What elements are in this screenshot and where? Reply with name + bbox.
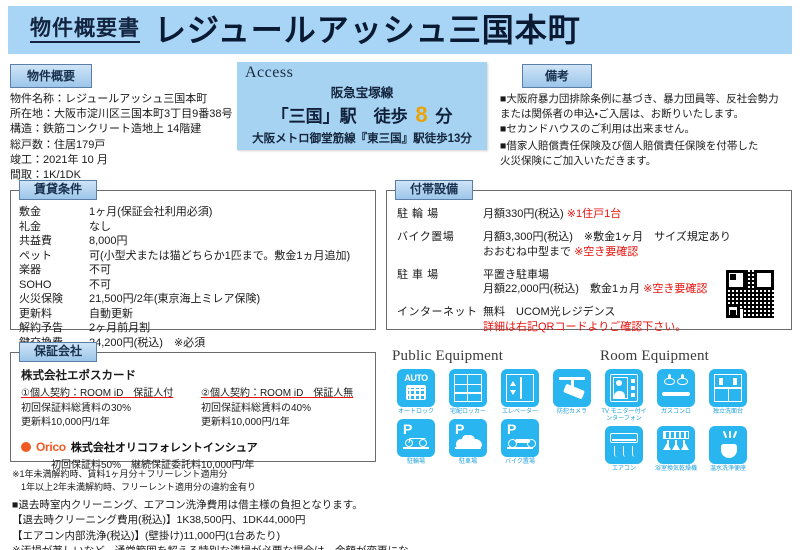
notes-mid-line-2: 【退去時クリーニング費用(税込)】1K38,500円、1DK44,000円 — [12, 513, 412, 528]
equipment-item: P 駐車場 — [444, 419, 492, 466]
remarks-line-1: ■大阪府暴力団排除条例に基づき、暴力団員等、反社会勢力 — [500, 93, 779, 105]
document-header: 物件概要書 レジュールアッシュ三国本町 — [8, 6, 792, 54]
access-walk-minutes: 8 — [412, 102, 430, 127]
ancillary-note: ※空き要確認 — [574, 246, 638, 258]
guarantee-plan-line2: 更新料10,000円/1年 — [21, 416, 187, 431]
motorcycle-parking-icon: P — [501, 419, 539, 457]
gas-stove-icon — [657, 369, 695, 407]
equipment-caption: オートロック — [392, 409, 440, 416]
guarantee-plan-title: ①個人契約：ROOM iD 保証人付 — [21, 387, 187, 402]
overview-item-address: 所在地：大阪市淀川区三国本町3丁目9番38号 — [10, 107, 232, 122]
internet-qr-code[interactable] — [725, 269, 775, 319]
remarks-line-3: ■セカンドハウスのご利用は出来ません。 — [500, 123, 695, 135]
delivery-locker-icon — [449, 369, 487, 407]
ancillary-equipment-section: 付帯設備 駐 輪 場 月額330円(税込) ※1住戸1台 バイク置場 月額3,3… — [386, 190, 792, 330]
remarks-line-4: ■借家人賠償責任保険及び個人賠償責任保険を付帯した — [500, 140, 758, 152]
rental-key: 火災保険 — [19, 292, 89, 307]
property-overview-label: 物件概要 — [10, 64, 92, 88]
overview-item-name: 物件名称：レジュールアッシュ三国本町 — [10, 92, 232, 107]
rental-row: 楽器不可 — [19, 263, 367, 278]
equipment-caption: 駐輪場 — [392, 459, 440, 466]
rental-value: 24,200円(税込) ※必須 — [89, 336, 205, 351]
rental-conditions-label: 賃貸条件 — [19, 180, 97, 200]
rental-row: SOHO不可 — [19, 278, 367, 293]
ancillary-row-motorcycle: バイク置場 月額3,300円(税込) ※敷金1ヶ月 サイズ規定あり おおむね中型… — [397, 230, 783, 260]
equipment-item: P バイク置場 — [496, 419, 544, 466]
bottom-notes: ※1年未満解約時、賃料1ヶ月分＋フリーレント適用分 1年以上2年未満解約時、フリ… — [12, 468, 412, 550]
room-equipment-grid: TV モニター付インターフォン ガスコンロ 独立洗面台 エアコン — [600, 369, 800, 473]
remarks-label: 備考 — [522, 64, 592, 88]
overview-item-units: 総戸数：住居179戸 — [10, 138, 232, 153]
notes-mid-line-4: ※汚損が著しいなど、通常範囲を超える特別な清掃が必要な場合は、金額が変更になりま… — [12, 544, 412, 550]
guarantee-company-label: 保証会社 — [19, 342, 97, 362]
remarks-line-5: 火災保険にご加入いただきます。 — [500, 155, 656, 167]
equipment-caption: TV モニター付インターフォン — [600, 409, 648, 423]
ancillary-key: バイク置場 — [397, 230, 483, 260]
rental-value: 可(小型犬または猫どちらか1匹まで。敷金1ヵ月追加) — [89, 249, 350, 264]
equipment-caption: エレベーター — [496, 409, 544, 416]
rental-row: 礼金なし — [19, 220, 367, 235]
property-summary-document: 物件概要書 レジュールアッシュ三国本町 物件概要 物件名称：レジュールアッシュ三… — [0, 0, 800, 550]
ancillary-row-bicycle: 駐 輪 場 月額330円(税込) ※1住戸1台 — [397, 207, 783, 222]
ancillary-key: 駐 輪 場 — [397, 207, 483, 222]
rental-value: 21,500円/2年(東京海上ミレア保険) — [89, 292, 260, 307]
rental-row: 更新料自動更新 — [19, 307, 367, 322]
guarantee-plan-line1: 初回保証料総賃料の30% — [21, 402, 187, 417]
security-camera-icon — [553, 369, 591, 407]
ancillary-key: インターネット — [397, 305, 483, 335]
orico-row: Orico 株式会社オリコフォレントインシュア — [21, 439, 367, 455]
ancillary-value-2: 月額22,000円(税込) 敷金1ヵ月 — [483, 283, 640, 295]
ancillary-value: 月額330円(税込) — [483, 208, 564, 220]
orico-logo-dot-icon — [21, 442, 31, 452]
equipment-caption: 浴室換気乾燥機 — [652, 466, 700, 473]
remarks-section: 備考 ■大阪府暴力団排除条例に基づき、暴力団員等、反社会勢力 または関係者の申込… — [500, 64, 792, 152]
remarks-line-2: または関係者の申込・ご入居は、お断りいたします。 — [500, 108, 744, 120]
access-panel: Access 阪急宝塚線 「三国」駅 徒歩 8 分 大阪メトロ御堂筋線『東三国』… — [237, 62, 487, 150]
guarantee-company-name: 株式会社エポスカード — [21, 367, 367, 383]
notes-small-line-2: 1年以上2年未満解約時、フリーレント適用分の違約金有り — [12, 481, 412, 494]
equipment-item: P 駐輪場 — [392, 419, 440, 466]
public-equipment-panel: Public Equipment AUTO オートロック 宅配ロッカー エレベー… — [392, 348, 597, 466]
document-type-tag: 物件概要書 — [30, 17, 140, 43]
access-station-walk: 「三国」駅 徒歩 8 分 — [237, 102, 487, 128]
rental-row: 解約予告2ヶ月前月割 — [19, 321, 367, 336]
rental-key: ペット — [19, 249, 89, 264]
remarks-list: ■大阪府暴力団排除条例に基づき、暴力団員等、反社会勢力 または関係者の申込・ご入… — [500, 92, 792, 169]
ancillary-equipment-label: 付帯設備 — [395, 180, 473, 200]
access-station-label: 「三国」駅 徒歩 — [272, 107, 408, 126]
ancillary-note: 詳細は右記QRコードよりご確認下さい。 — [483, 321, 686, 333]
rental-value: なし — [89, 220, 111, 235]
bicycle-parking-icon: P — [397, 419, 435, 457]
property-overview-list: 物件名称：レジュールアッシュ三国本町 所在地：大阪市淀川区三国本町3丁目9番38… — [10, 92, 232, 183]
washlet-icon — [709, 426, 747, 464]
rental-key: 共益費 — [19, 234, 89, 249]
equipment-item: ガスコンロ — [652, 369, 700, 423]
room-equipment-title: Room Equipment — [600, 348, 800, 365]
access-rail-line: 阪急宝塚線 — [237, 82, 487, 101]
vanity-sink-icon — [709, 369, 747, 407]
equipment-item: エレベーター — [496, 369, 544, 416]
notes-small-line-1: ※1年未満解約時、賃料1ヶ月分＋フリーレント適用分 — [12, 468, 412, 481]
rental-key: 礼金 — [19, 220, 89, 235]
notes-mid-line-3: 【エアコン内部洗浄(税込)】(壁掛け)11,000円(1台あたり) — [12, 529, 412, 544]
guarantee-plan-2: ②個人契約：ROOM iD 保証人無 初回保証料総賃料の40% 更新料10,00… — [201, 387, 367, 431]
rental-value: 不可 — [89, 263, 111, 278]
equipment-caption: 宅配ロッカー — [444, 409, 492, 416]
access-title: Access — [245, 64, 293, 82]
equipment-caption: バイク置場 — [496, 459, 544, 466]
equipment-caption: 防犯カメラ — [548, 409, 596, 416]
guarantee-company-section: 保証会社 株式会社エポスカード ①個人契約：ROOM iD 保証人付 初回保証料… — [10, 352, 376, 462]
equipment-caption: エアコン — [600, 466, 648, 473]
public-equipment-title: Public Equipment — [392, 348, 597, 365]
ancillary-value-2: おおむね中型まで — [483, 246, 571, 258]
guarantee-plan-title: ②個人契約：ROOM iD 保証人無 — [201, 387, 367, 402]
elevator-icon — [501, 369, 539, 407]
property-name-title: レジュールアッシュ三国本町 — [154, 14, 581, 46]
rental-conditions-list: 敷金1ヶ月(保証会社利用必須) 礼金なし 共益費8,000円 ペット可(小型犬ま… — [11, 191, 375, 356]
equipment-item: AUTO オートロック — [392, 369, 440, 416]
air-conditioner-icon — [605, 426, 643, 464]
guarantee-plan-1: ①個人契約：ROOM iD 保証人付 初回保証料総賃料の30% 更新料10,00… — [21, 387, 187, 431]
property-overview-section: 物件概要 物件名称：レジュールアッシュ三国本町 所在地：大阪市淀川区三国本町3丁… — [10, 64, 232, 149]
rental-key: 更新料 — [19, 307, 89, 322]
notes-mid: ■退去時室内クリーニング、エアコン洗浄費用は借主様の負担となります。 【退去時ク… — [12, 498, 412, 550]
ancillary-note: ※1住戸1台 — [567, 208, 621, 220]
rental-value: 1ヶ月(保証会社利用必須) — [89, 205, 212, 220]
auto-lock-icon: AUTO — [397, 369, 435, 407]
equipment-caption: 独立洗面台 — [704, 409, 752, 416]
orico-brand: Orico — [36, 440, 66, 454]
orico-company-name: 株式会社オリコフォレントインシュア — [71, 439, 258, 455]
equipment-caption: 温水洗浄便座 — [704, 466, 752, 473]
rental-key: 敷金 — [19, 205, 89, 220]
rental-key: SOHO — [19, 278, 89, 293]
equipment-item: エアコン — [600, 426, 648, 473]
rental-key: 解約予告 — [19, 321, 89, 336]
rental-value: 不可 — [89, 278, 111, 293]
rental-value: 自動更新 — [89, 307, 133, 322]
room-equipment-panel: Room Equipment TV モニター付インターフォン ガスコンロ 独立洗… — [600, 348, 800, 473]
ancillary-key: 駐 車 場 — [397, 268, 483, 298]
ancillary-value: 平置き駐車場 — [483, 269, 549, 281]
equipment-item: 独立洗面台 — [704, 369, 752, 423]
notes-mid-line-1: ■退去時室内クリーニング、エアコン洗浄費用は借主様の負担となります。 — [12, 498, 412, 513]
overview-item-completion: 竣工：2021年 10 月 — [10, 153, 232, 168]
equipment-caption: 駐車場 — [444, 459, 492, 466]
rental-key: 楽器 — [19, 263, 89, 278]
equipment-item: 宅配ロッカー — [444, 369, 492, 416]
guarantee-plan-line1: 初回保証料総賃料の40% — [201, 402, 367, 417]
access-walk-unit: 分 — [435, 107, 452, 126]
rental-row: 敷金1ヶ月(保証会社利用必須) — [19, 205, 367, 220]
equipment-item: TV モニター付インターフォン — [600, 369, 648, 423]
ancillary-value: 無料 UCOM光レジデンス — [483, 306, 615, 318]
rental-value: 8,000円 — [89, 234, 128, 249]
overview-item-structure: 構造：鉄筋コンクリート造地上 14階建 — [10, 122, 232, 137]
ancillary-note: ※空き要確認 — [643, 283, 707, 295]
rental-row: 共益費8,000円 — [19, 234, 367, 249]
rental-row: 火災保険21,500円/2年(東京海上ミレア保険) — [19, 292, 367, 307]
notes-small: ※1年未満解約時、賃料1ヶ月分＋フリーレント適用分 1年以上2年未満解約時、フリ… — [12, 468, 412, 493]
equipment-item: 浴室換気乾燥機 — [652, 426, 700, 473]
equipment-item: 防犯カメラ — [548, 369, 596, 416]
access-secondary-line: 大阪メトロ御堂筋線『東三国』駅徒歩13分 — [237, 130, 487, 146]
rental-row: ペット可(小型犬または猫どちらか1匹まで。敷金1ヵ月追加) — [19, 249, 367, 264]
bath-dryer-icon — [657, 426, 695, 464]
car-parking-icon: P — [449, 419, 487, 457]
ancillary-value: 月額3,300円(税込) ※敷金1ヶ月 サイズ規定あり — [483, 231, 731, 243]
tv-monitor-intercom-icon — [605, 369, 643, 407]
rental-conditions-section: 賃貸条件 敷金1ヶ月(保証会社利用必須) 礼金なし 共益費8,000円 ペット可… — [10, 190, 376, 330]
equipment-item: 温水洗浄便座 — [704, 426, 752, 473]
public-equipment-grid: AUTO オートロック 宅配ロッカー エレベーター 防犯カメ — [392, 369, 597, 466]
guarantee-plan-line2: 更新料10,000円/1年 — [201, 416, 367, 431]
rental-value: 2ヶ月前月割 — [89, 321, 150, 336]
equipment-caption: ガスコンロ — [652, 409, 700, 416]
